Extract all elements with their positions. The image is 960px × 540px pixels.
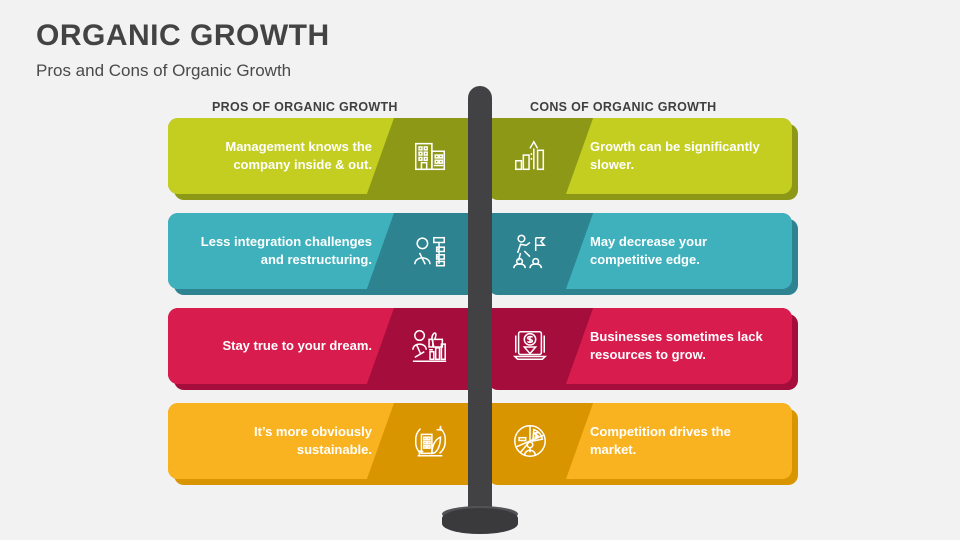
pro-card[interactable]: Management knows the company inside & ou… xyxy=(168,118,478,200)
pro-card[interactable]: Less integration challenges and restruct… xyxy=(168,213,478,295)
card-text-panel: Less integration challenges and restruct… xyxy=(168,213,394,289)
slide-canvas: ORGANIC GROWTH Pros and Cons of Organic … xyxy=(0,0,960,540)
card-body: Competition drives the market. xyxy=(482,403,792,479)
card-label: Competition drives the market. xyxy=(590,423,778,459)
office-building-icon xyxy=(382,118,478,194)
card-text-panel: Stay true to your dream. xyxy=(168,308,394,384)
card-text-panel: Management knows the company inside & ou… xyxy=(168,118,394,194)
con-card[interactable]: Competition drives the market. xyxy=(482,403,792,485)
person-org-chart-icon xyxy=(382,213,478,289)
card-text-panel: It’s more obviously sustainable. xyxy=(168,403,394,479)
card-body: It’s more obviously sustainable. xyxy=(168,403,478,479)
thumbs-up-chart-icon xyxy=(382,308,478,384)
card-text-panel: Growth can be significantly slower. xyxy=(566,118,792,194)
column-header-cons: CONS OF ORGANIC GROWTH xyxy=(530,100,716,114)
card-label: Growth can be significantly slower. xyxy=(590,138,778,174)
center-pole xyxy=(468,86,492,518)
competition-flag-icon xyxy=(482,213,578,289)
card-body: Management knows the company inside & ou… xyxy=(168,118,478,194)
card-label: Stay true to your dream. xyxy=(222,337,372,355)
sustainable-building-icon xyxy=(382,403,478,479)
card-body: Stay true to your dream. xyxy=(168,308,478,384)
page-title: ORGANIC GROWTH xyxy=(36,16,330,56)
card-text-panel: Businesses sometimes lack resources to g… xyxy=(566,308,792,384)
card-label: Less integration challenges and restruct… xyxy=(182,233,372,269)
pro-card[interactable]: It’s more obviously sustainable. xyxy=(168,403,478,485)
page-subtitle: Pros and Cons of Organic Growth xyxy=(36,58,330,84)
card-label: Management knows the company inside & ou… xyxy=(182,138,372,174)
money-laptop-icon xyxy=(482,308,578,384)
pie-chart-market-icon xyxy=(482,403,578,479)
bar-chart-growth-icon xyxy=(482,118,578,194)
card-text-panel: May decrease your competitive edge. xyxy=(566,213,792,289)
card-body: Growth can be significantly slower. xyxy=(482,118,792,194)
pro-card[interactable]: Stay true to your dream. xyxy=(168,308,478,390)
con-card[interactable]: May decrease your competitive edge. xyxy=(482,213,792,295)
column-header-pros: PROS OF ORGANIC GROWTH xyxy=(212,100,398,114)
con-card[interactable]: Growth can be significantly slower. xyxy=(482,118,792,200)
card-text-panel: Competition drives the market. xyxy=(566,403,792,479)
title-block: ORGANIC GROWTH Pros and Cons of Organic … xyxy=(36,16,330,84)
center-pole-base xyxy=(442,508,518,534)
card-body: Businesses sometimes lack resources to g… xyxy=(482,308,792,384)
card-label: Businesses sometimes lack resources to g… xyxy=(590,328,778,364)
card-body: Less integration challenges and restruct… xyxy=(168,213,478,289)
con-card[interactable]: Businesses sometimes lack resources to g… xyxy=(482,308,792,390)
card-label: May decrease your competitive edge. xyxy=(590,233,778,269)
card-label: It’s more obviously sustainable. xyxy=(182,423,372,459)
card-body: May decrease your competitive edge. xyxy=(482,213,792,289)
